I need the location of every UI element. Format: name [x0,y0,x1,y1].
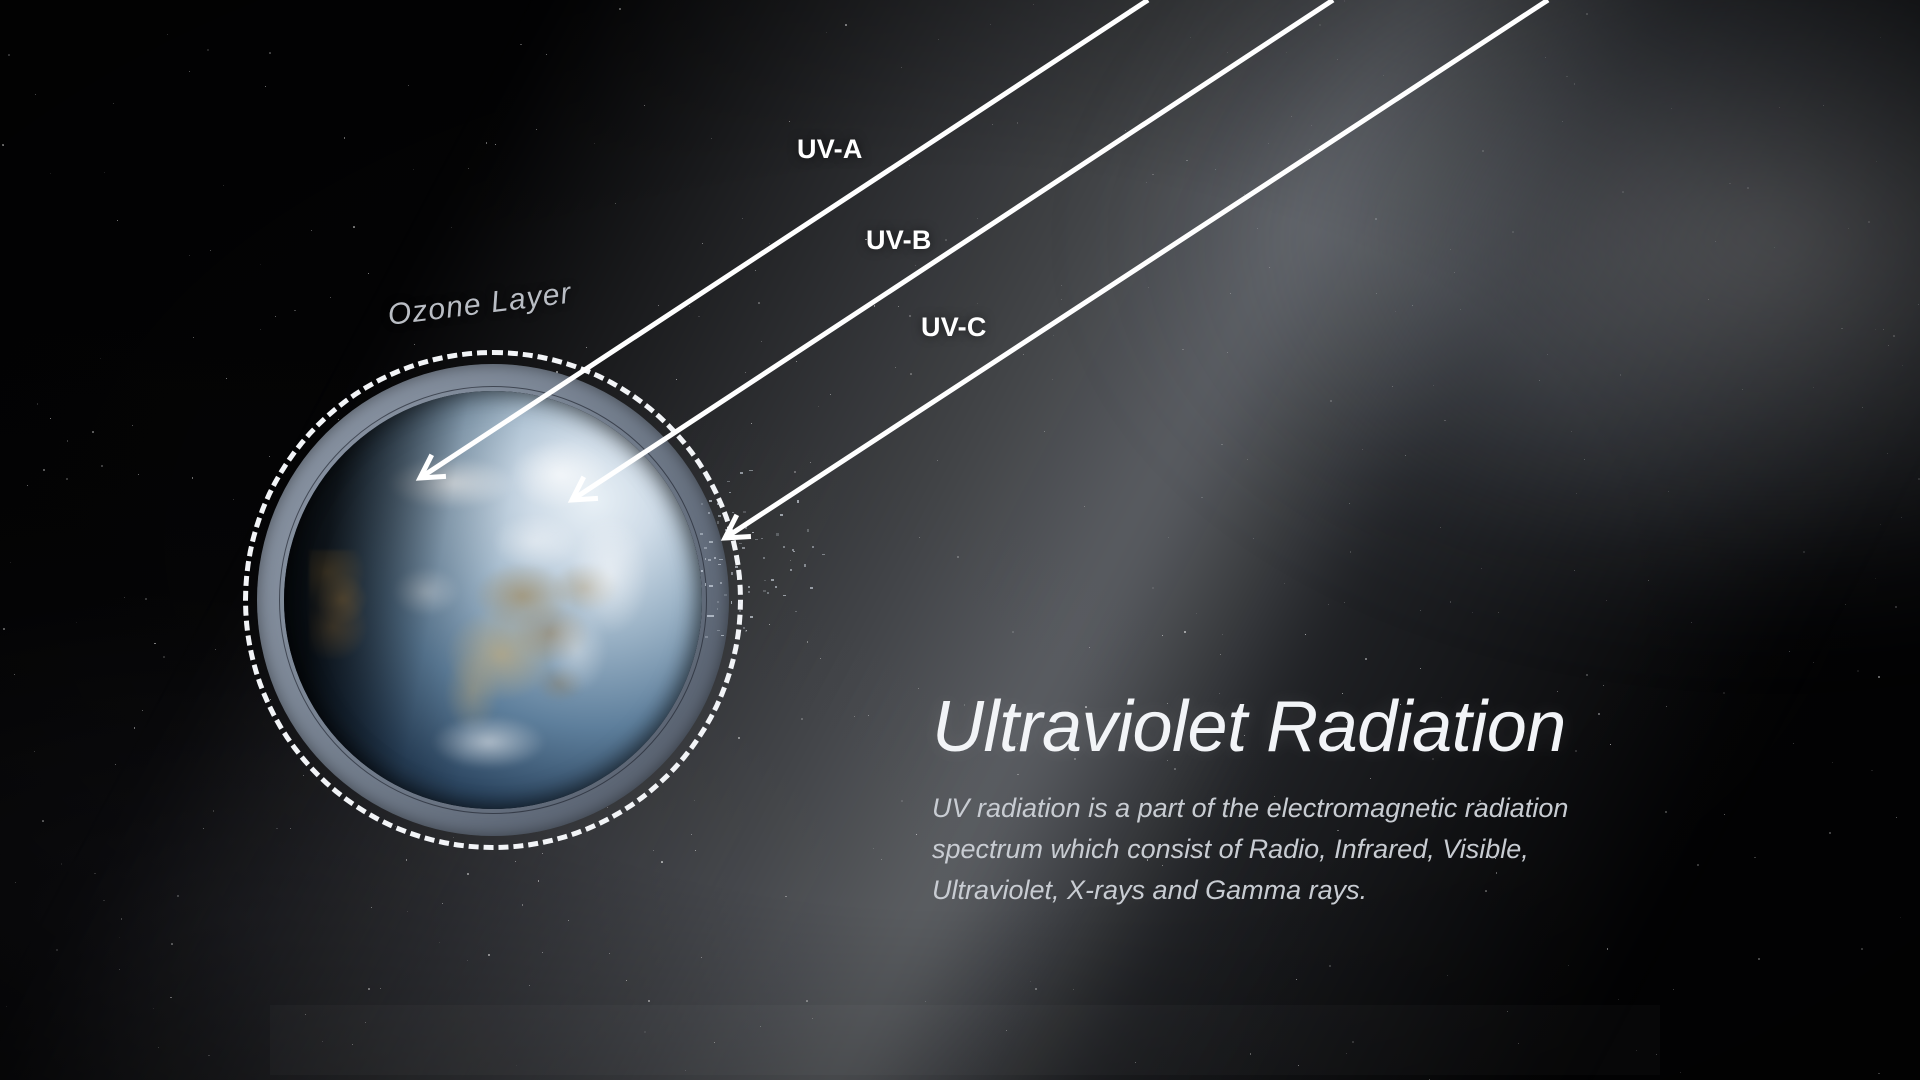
scattered-particles [700,470,840,640]
ray-label-uv-c: UV-C [921,312,987,343]
ray-label-uv-a: UV-A [797,134,863,165]
text-block: Ultraviolet Radiation UV radiation is a … [932,690,1692,911]
ray-label-uv-b: UV-B [866,225,932,256]
page-description: UV radiation is a part of the electromag… [932,788,1652,911]
earth-globe [243,350,743,850]
page-title: Ultraviolet Radiation [932,690,1692,766]
ozone-layer-dashed-outline [243,350,743,850]
slide-canvas: UV-A UV-B UV-C Ozone Layer Ultraviolet R… [0,0,1920,1080]
